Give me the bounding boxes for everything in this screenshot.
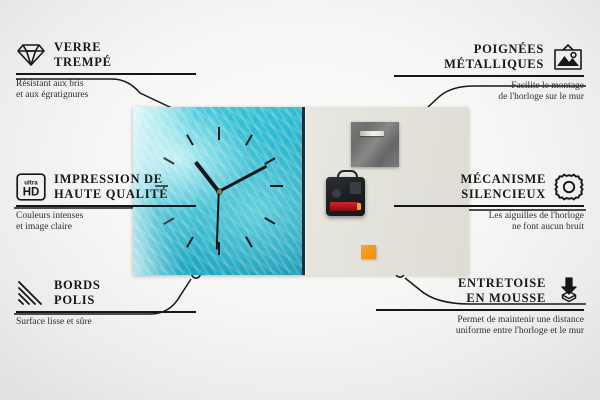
clock-tick-2 — [264, 157, 275, 164]
callout-mecanisme-silencieux: MÉCANISME SILENCIEUX Les aiguilles de l'… — [394, 172, 584, 234]
callout-desc-line2: et aux égratignures — [16, 90, 206, 102]
mechanism-battery — [330, 202, 359, 211]
callout-title-line2: MÉTALLIQUES — [444, 57, 544, 72]
callout-desc-line2: ne font aucun bruit — [394, 222, 584, 234]
clock-center-cap — [217, 189, 222, 194]
clock-tick-6 — [218, 242, 220, 255]
callout-desc-line1: Les aiguilles de l'horloge — [394, 211, 584, 223]
callout-header: ENTRETOISE EN MOUSSE — [376, 276, 584, 306]
clock-tick-12 — [218, 127, 220, 140]
callout-header: ultra HD IMPRESSION DE HAUTE QUALITÉ — [16, 172, 216, 202]
foam-spacer — [361, 245, 376, 259]
callout-desc-line1: Permet de maintenir une distance — [376, 315, 584, 327]
diamond-icon — [16, 42, 46, 68]
clock-tick-7 — [186, 236, 193, 247]
mechanism-battery-terminal — [357, 203, 361, 210]
callout-title-line1: IMPRESSION DE — [54, 172, 168, 187]
callout-desc-line1: Couleurs intenses — [16, 211, 216, 223]
callout-impression-haute-qualite: ultra HD IMPRESSION DE HAUTE QUALITÉ Cou… — [16, 172, 216, 234]
callout-rule — [16, 311, 196, 313]
callout-title-line1: ENTRETOISE — [458, 276, 546, 291]
clock-tick-5 — [245, 236, 252, 247]
mechanism-vent-detail — [350, 182, 361, 194]
hanger-plate-slot — [360, 131, 384, 136]
callout-header: VERRE TREMPÉ — [16, 40, 206, 70]
ultra-hd-large-text: HD — [23, 187, 40, 199]
callout-desc-line1: Surface lisse et sûre — [16, 317, 206, 329]
callout-rule — [394, 75, 584, 77]
gear-icon — [554, 172, 584, 202]
clock-mechanism-box — [326, 177, 365, 216]
clock-tick-10 — [163, 157, 174, 164]
picture-frame-hanger-icon — [552, 43, 584, 71]
callout-bords-polis: BORDS POLIS Surface lisse et sûre — [16, 278, 206, 328]
callout-title-line2: TREMPÉ — [54, 55, 112, 70]
clock-second-hand — [216, 191, 220, 249]
callout-rule — [16, 205, 196, 207]
callout-header: MÉCANISME SILENCIEUX — [394, 172, 584, 202]
callout-desc-line2: uniforme entre l'horloge et le mur — [376, 326, 584, 338]
callout-rule — [394, 205, 584, 207]
callout-desc-line1: Facilite le montage — [394, 81, 584, 93]
clock-minute-hand — [218, 165, 267, 193]
callout-desc-line2: de l'horloge sur le mur — [394, 92, 584, 104]
product-infographic: VERRE TREMPÉ Résistant aux bris et aux é… — [0, 0, 600, 400]
press-down-foam-icon — [554, 276, 584, 306]
callout-rule — [376, 309, 584, 311]
metal-hanger-plate — [351, 122, 399, 167]
callout-desc-line2: et image claire — [16, 222, 216, 234]
ultra-hd-badge-icon: ultra HD — [16, 173, 46, 201]
mechanism-dial-detail — [332, 189, 341, 198]
clock-tick-3 — [270, 185, 283, 187]
callout-verre-trempe: VERRE TREMPÉ Résistant aux bris et aux é… — [16, 40, 206, 102]
callout-poignees-metalliques: POIGNÉES MÉTALLIQUES Facilite le montage… — [394, 42, 584, 104]
callout-rule — [16, 73, 196, 75]
callout-entretoise-en-mousse: ENTRETOISE EN MOUSSE Permet de maintenir… — [376, 276, 584, 338]
callout-title-line1: VERRE — [54, 40, 112, 55]
clock-tick-4 — [264, 217, 275, 224]
callout-title-line2: EN MOUSSE — [458, 291, 546, 306]
polished-edge-icon — [16, 280, 46, 306]
callout-header: BORDS POLIS — [16, 278, 206, 308]
callout-title-line2: SILENCIEUX — [461, 187, 546, 202]
clock-tick-11 — [186, 134, 193, 145]
callout-title-line2: HAUTE QUALITÉ — [54, 187, 168, 202]
clock-tick-1 — [245, 134, 252, 145]
ultra-hd-small-text: ultra — [24, 180, 38, 187]
callout-desc-line1: Résistant aux bris — [16, 79, 206, 91]
callout-header: POIGNÉES MÉTALLIQUES — [394, 42, 584, 72]
callout-title-line1: POIGNÉES — [444, 42, 544, 57]
callout-title-line1: MÉCANISME — [461, 172, 546, 187]
callout-title-line2: POLIS — [54, 293, 101, 308]
callout-title-line1: BORDS — [54, 278, 101, 293]
